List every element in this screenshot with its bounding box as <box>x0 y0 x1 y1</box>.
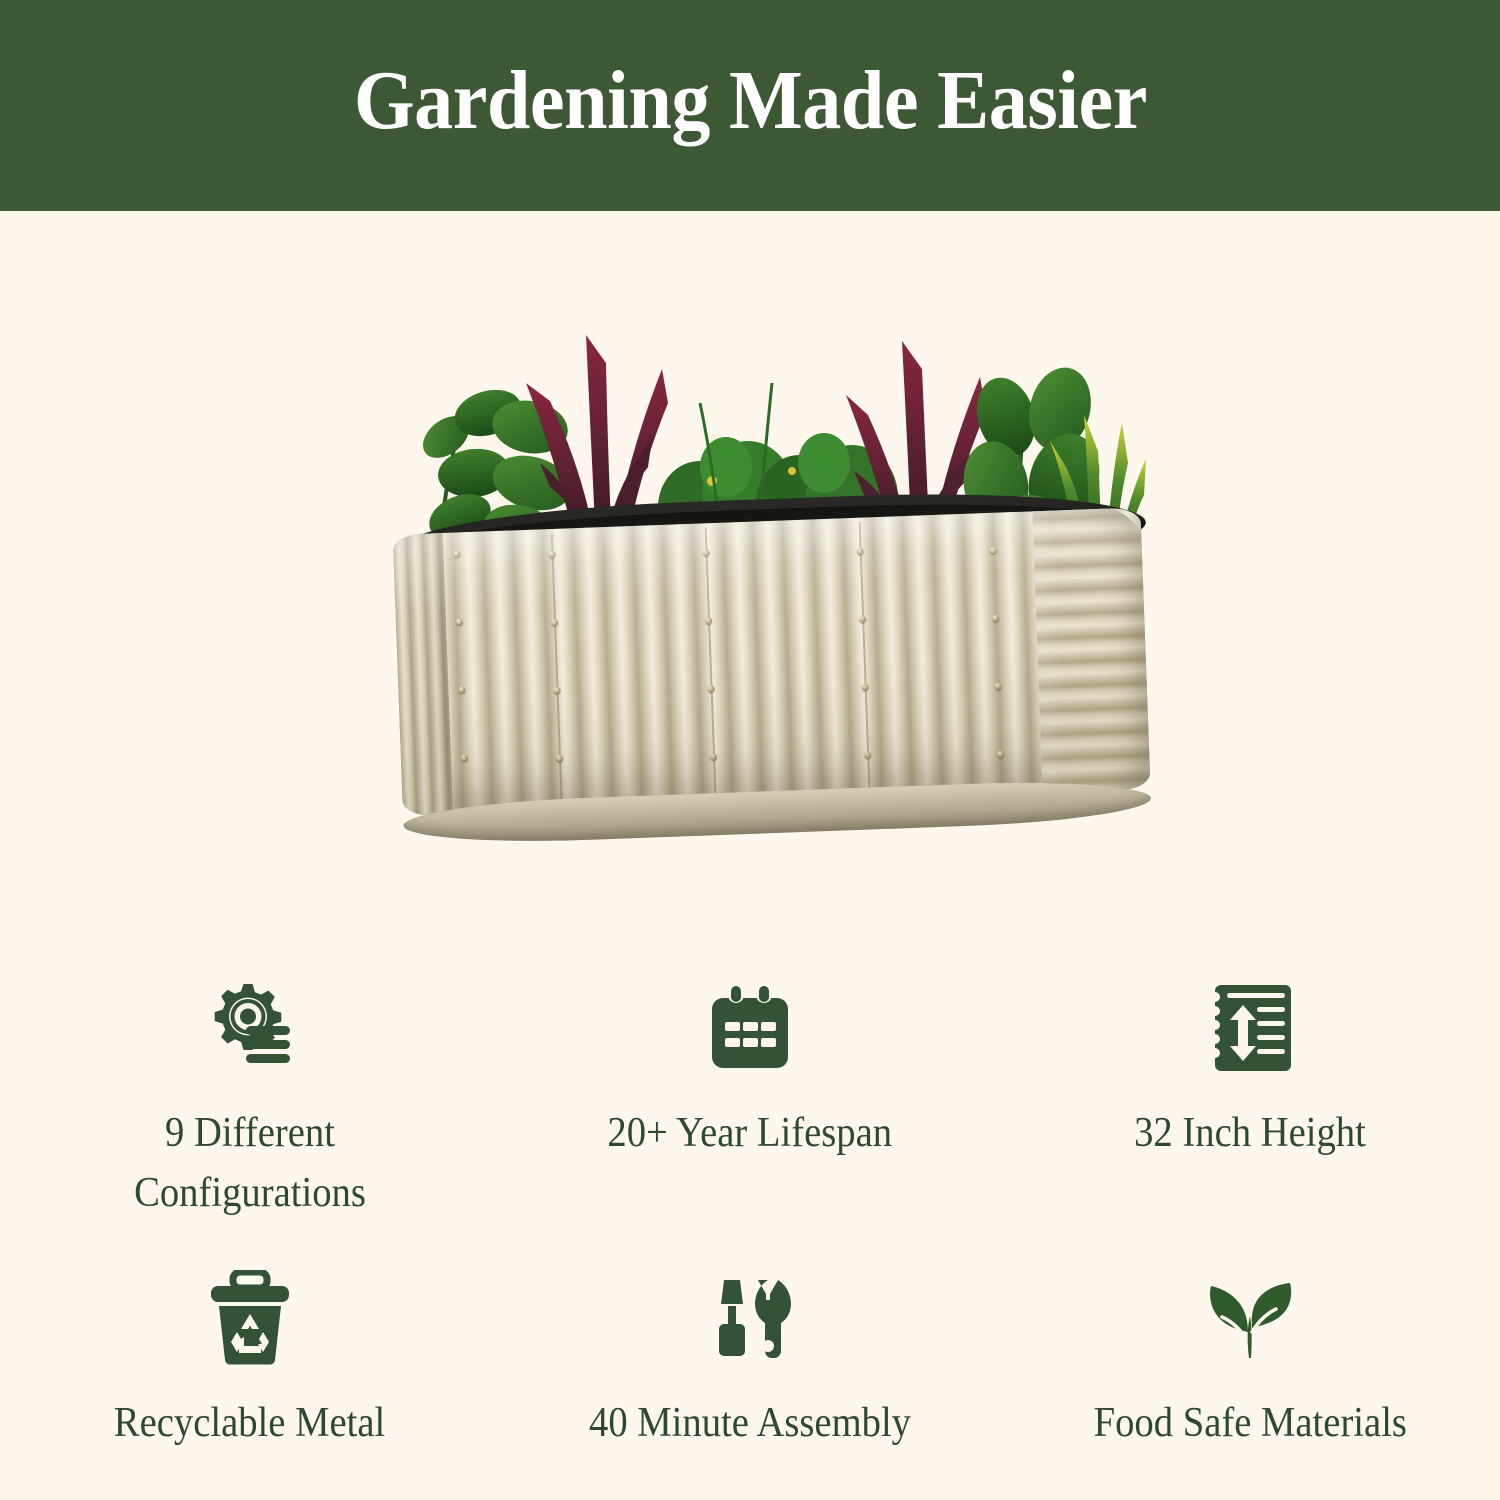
feature-label: 20+ Year Lifespan <box>608 1104 893 1164</box>
bed-bolt <box>453 550 460 557</box>
feature-assembly: 40 Minute Assembly <box>500 1250 1000 1500</box>
header-band: Gardening Made Easier <box>0 0 1500 211</box>
bed-bolt <box>707 685 714 692</box>
page-title: Gardening Made Easier <box>353 59 1146 153</box>
recycle-bin-icon <box>200 1268 300 1368</box>
feature-label: 9 Different Configurations <box>134 1104 366 1223</box>
bed-bolt <box>458 686 465 693</box>
bed-bolt <box>461 754 468 761</box>
tools-screwdriver-wrench-icon <box>700 1268 800 1368</box>
bed-bolt <box>556 755 563 762</box>
bed-bolt <box>859 616 866 623</box>
bed-bolt <box>992 615 999 622</box>
feature-label: 40 Minute Assembly <box>589 1394 911 1454</box>
hero-product-image <box>0 211 1500 956</box>
feature-configurations: 9 Different Configurations <box>0 960 500 1250</box>
feature-height: 32 Inch Height <box>1000 960 1500 1250</box>
bed-bolt <box>857 548 864 555</box>
bed-bolt <box>456 618 463 625</box>
gear-settings-list-icon <box>200 978 300 1078</box>
bed-body <box>393 507 1151 834</box>
feature-label-line1: Food Safe Materials <box>1093 1400 1406 1446</box>
bed-left-end-cap <box>393 531 454 817</box>
feature-label-line1: 9 Different <box>165 1110 335 1156</box>
bed-bolt <box>548 551 555 558</box>
bed-bolt <box>553 687 560 694</box>
ruler-height-arrow-icon <box>1200 978 1300 1078</box>
product-stage <box>0 211 1500 956</box>
bed-panel-seam <box>551 533 563 807</box>
bed-bolt <box>997 751 1004 758</box>
feature-label-line1: 32 Inch Height <box>1134 1110 1366 1156</box>
bed-bolt <box>551 619 558 626</box>
raised-garden-bed <box>398 499 1146 859</box>
feature-label: Recyclable Metal <box>114 1394 385 1454</box>
bed-bolt <box>990 547 997 554</box>
feature-food-safe: Food Safe Materials <box>1000 1250 1500 1500</box>
bed-bolt <box>864 751 871 758</box>
feature-label-line1: Recyclable Metal <box>114 1400 385 1446</box>
feature-label-line1: 20+ Year Lifespan <box>608 1110 893 1156</box>
feature-grid: 9 Different Configurations <box>0 960 1500 1500</box>
sprout-leaves-icon <box>1200 1268 1300 1368</box>
feature-label-line1: 40 Minute Assembly <box>589 1400 911 1446</box>
feature-label: 32 Inch Height <box>1134 1104 1366 1164</box>
feature-recyclable: Recyclable Metal <box>0 1250 500 1500</box>
bed-corrugated-face <box>393 507 1151 816</box>
feature-label-line2: Configurations <box>134 1170 366 1216</box>
calendar-icon <box>700 978 800 1078</box>
bed-bolt <box>702 549 709 556</box>
feature-lifespan: 20+ Year Lifespan <box>500 960 1000 1250</box>
bed-bolt <box>995 683 1002 690</box>
feature-label: Food Safe Materials <box>1093 1394 1406 1454</box>
bed-bolt <box>862 683 869 690</box>
bed-bolt <box>710 753 717 760</box>
bed-panel-seam <box>705 527 717 801</box>
bed-right-end-cap <box>1032 507 1150 807</box>
bed-bolt <box>705 617 712 624</box>
